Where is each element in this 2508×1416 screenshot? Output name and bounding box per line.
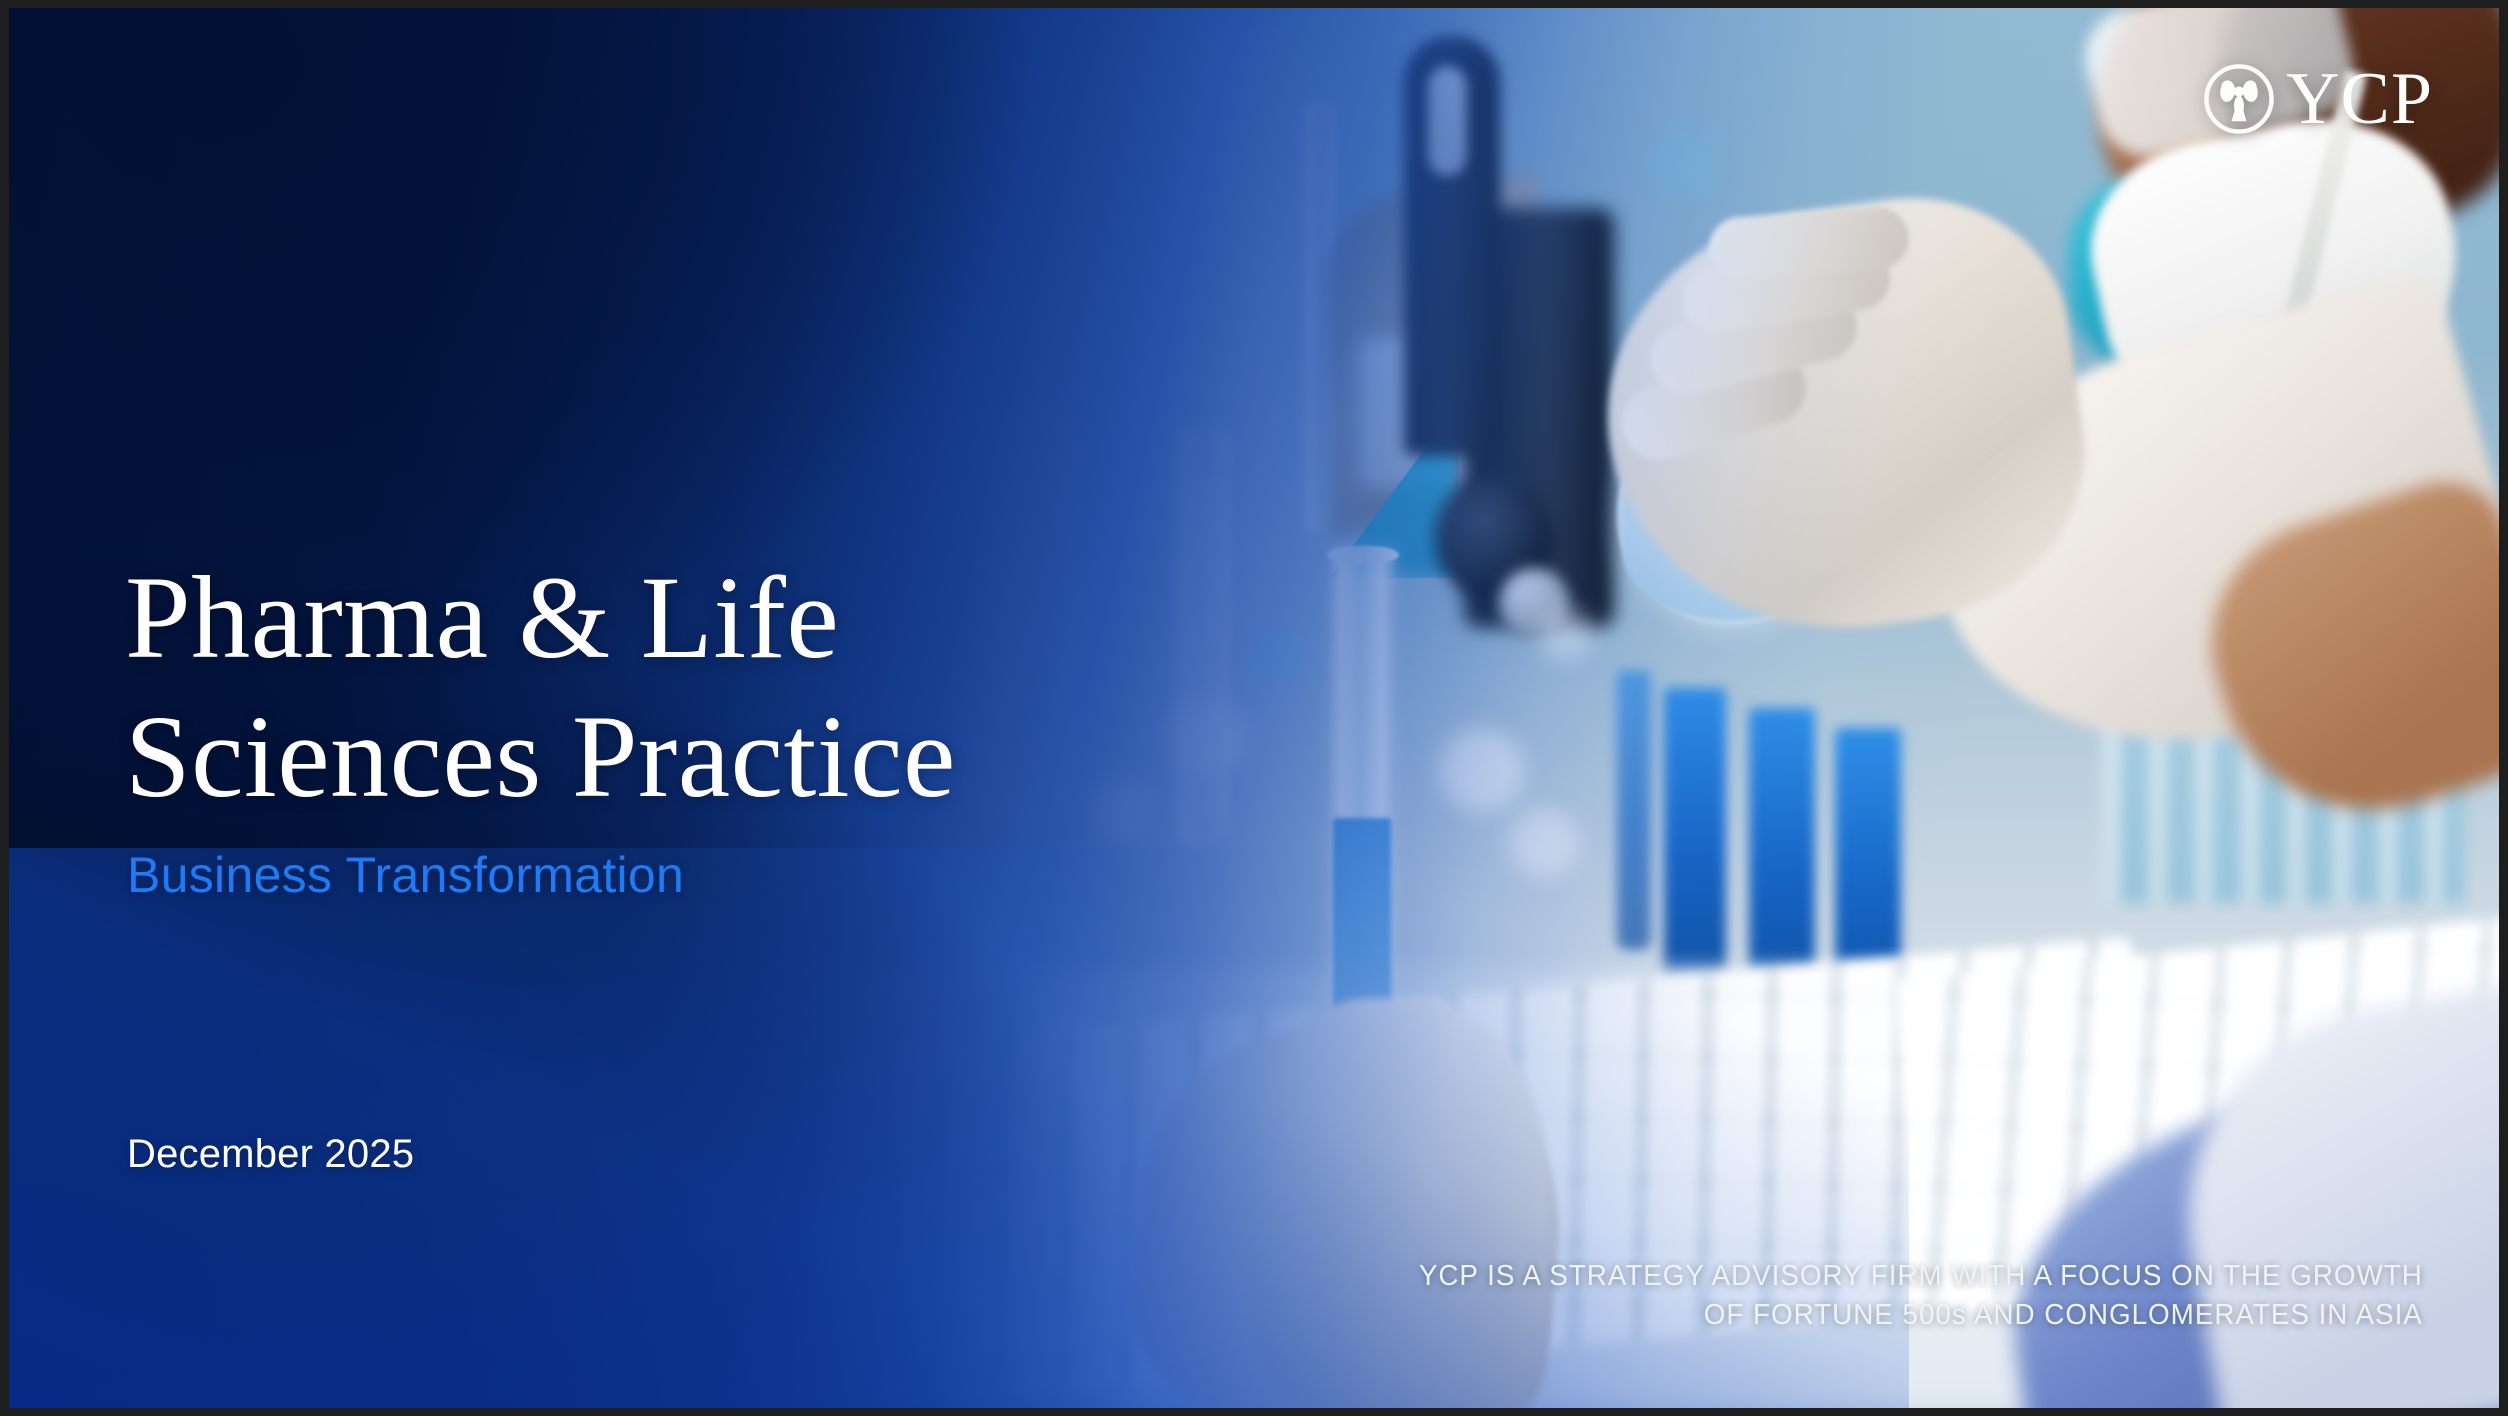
company-tagline: YCP IS A STRATEGY ADVISORY FIRM WITH A F… [1419, 1257, 2423, 1334]
tagline-line-1: YCP IS A STRATEGY ADVISORY FIRM WITH A F… [1419, 1257, 2423, 1295]
ycp-wordmark: YCP [2286, 62, 2433, 136]
title-line-2: Sciences Practice [125, 687, 1275, 826]
presentation-slide: YCP Pharma & Life Sciences Practice Busi… [0, 0, 2508, 1416]
page-title: Pharma & Life Sciences Practice [125, 548, 1275, 826]
slide-date: December 2025 [127, 1132, 414, 1177]
title-line-1: Pharma & Life [125, 548, 1275, 687]
slide-canvas: YCP Pharma & Life Sciences Practice Busi… [9, 8, 2499, 1408]
slide-subtitle: Business Transformation [127, 846, 684, 904]
ycp-logo[interactable]: YCP [2202, 62, 2433, 136]
ycp-logo-mark [2202, 62, 2276, 136]
tagline-line-2: OF FORTUNE 500s AND CONGLOMERATES IN ASI… [1419, 1296, 2423, 1334]
